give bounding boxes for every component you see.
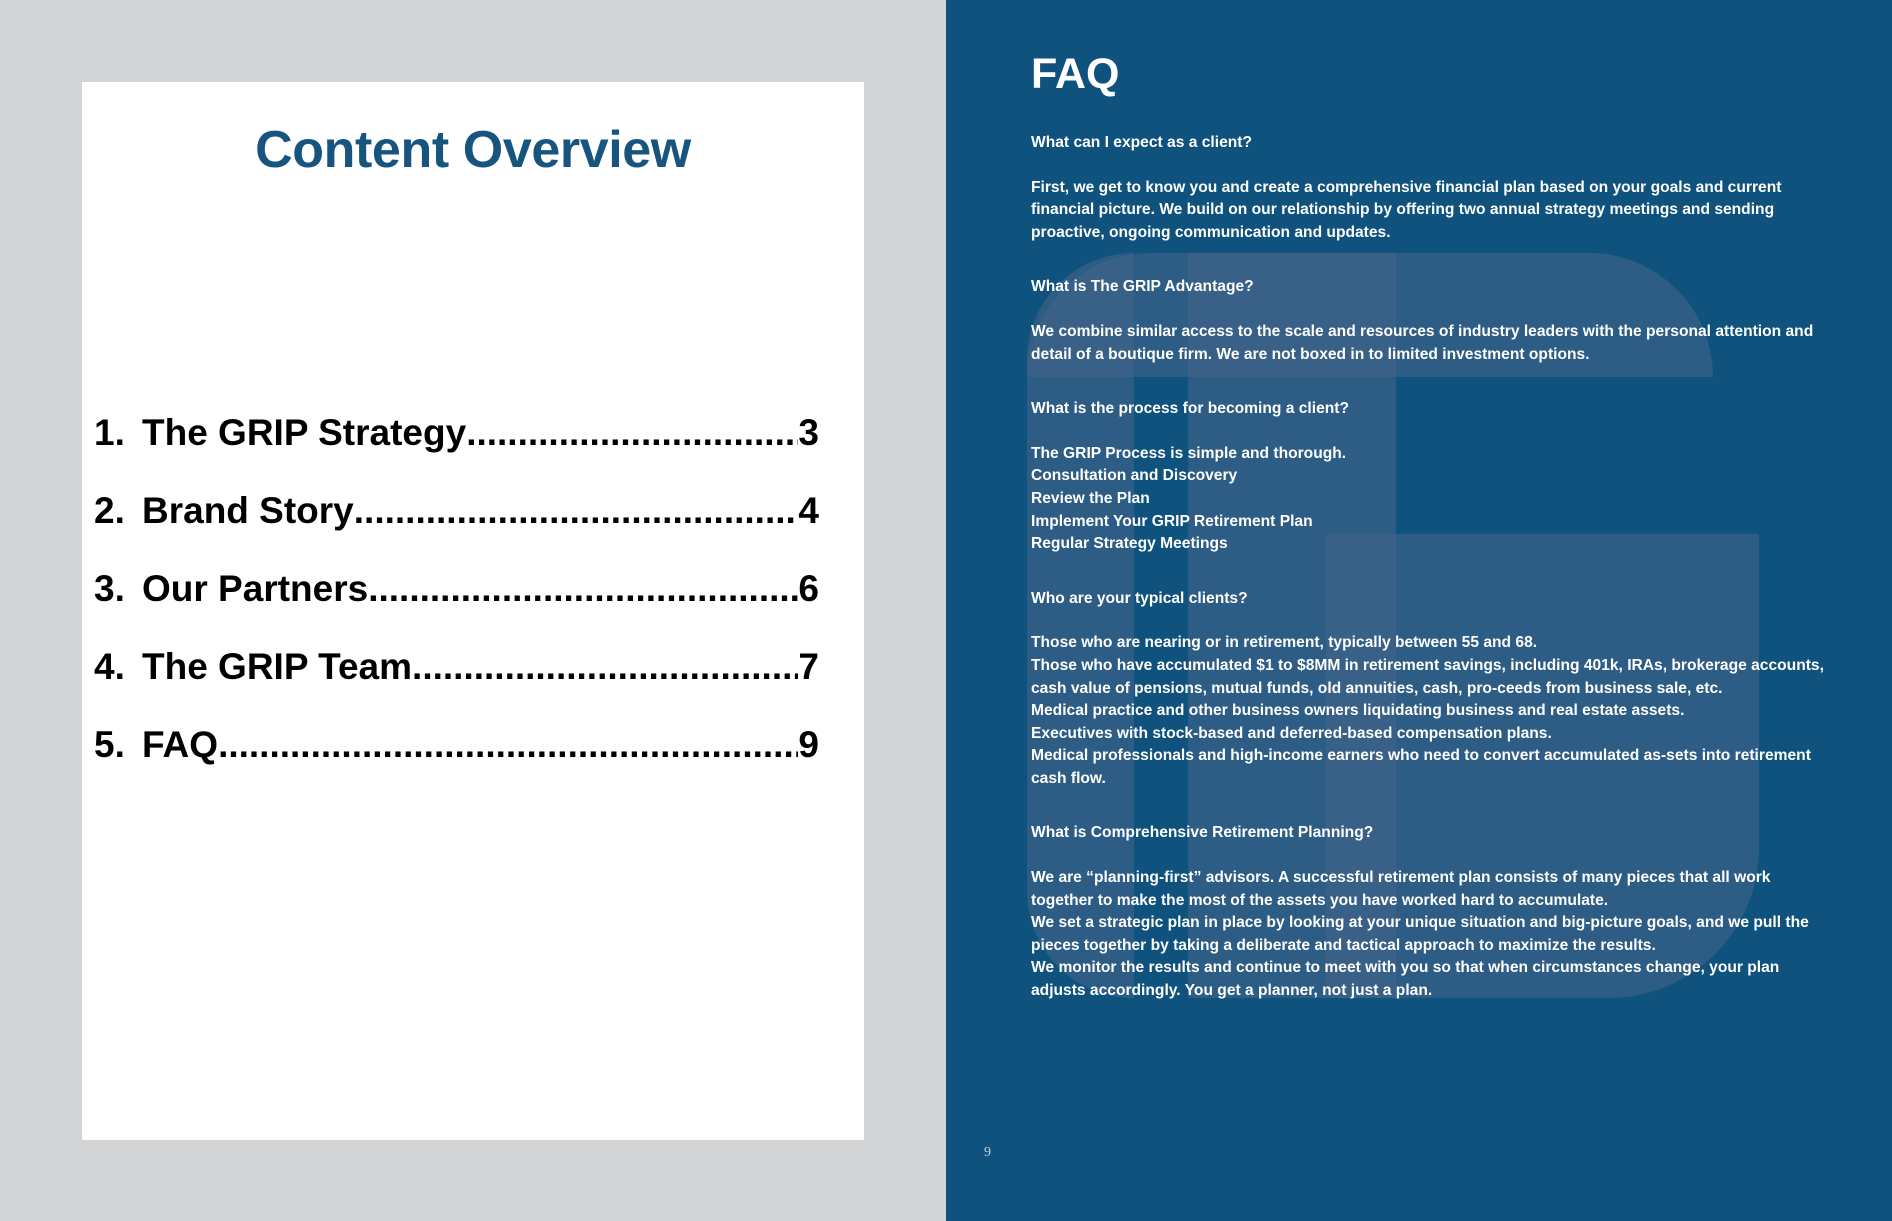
toc-row[interactable]: 4.The GRIP Team.........................… [82,646,864,724]
toc-leader-dots: ........................................… [368,568,798,610]
toc-row[interactable]: 5.FAQ...................................… [82,724,864,802]
page-number: 9 [984,1145,991,1161]
faq-list: What can I expect as a client?First, we … [1031,132,1831,1003]
faq-answer-line: Executives with stock-based and deferred… [1031,723,1831,746]
faq-answer-line: Medical professionals and high-income ea… [1031,745,1831,790]
faq-answer-line: Those who are nearing or in retirement, … [1031,632,1831,655]
faq-answer-line: We combine similar access to the scale a… [1031,321,1831,366]
faq-answer: First, we get to know you and create a c… [1031,177,1831,245]
toc-page-number: 6 [798,568,864,610]
table-of-contents: 1.The GRIP Strategy.....................… [82,412,864,802]
faq-answer-line: Those who have accumulated $1 to $8MM in… [1031,655,1831,700]
page-title: Content Overview [82,120,864,180]
faq-answer-line: We are “planning-first” advisors. A succ… [1031,867,1831,912]
toc-leader-dots: ........................................… [466,412,798,454]
faq-question: What is The GRIP Advantage? [1031,276,1831,299]
faq-question: What is Comprehensive Retirement Plannin… [1031,822,1831,845]
toc-page-number: 9 [798,724,864,766]
content-overview-slide: Content Overview 1.The GRIP Strategy....… [82,82,864,1140]
faq-question: What can I expect as a client? [1031,132,1831,155]
toc-label: Our Partners [142,568,368,610]
toc-row[interactable]: 1.The GRIP Strategy.....................… [82,412,864,490]
toc-row[interactable]: 2.Brand Story...........................… [82,490,864,568]
document-page: Content Overview 1.The GRIP Strategy....… [0,0,1892,1221]
toc-leader-dots: ........................................… [354,490,799,532]
toc-row[interactable]: 3.Our Partners..........................… [82,568,864,646]
toc-number: 2. [82,490,142,532]
toc-label: The GRIP Strategy [142,412,466,454]
faq-answer: We are “planning-first” advisors. A succ… [1031,867,1831,1003]
faq-answer-line: We set a strategic plan in place by look… [1031,912,1831,957]
faq-slide: FAQ What can I expect as a client?First,… [946,0,1892,1221]
faq-answer-line: Implement Your GRIP Retirement Plan [1031,511,1831,534]
toc-number: 1. [82,412,142,454]
faq-answer-line: Medical practice and other business owne… [1031,700,1831,723]
faq-title: FAQ [1031,50,1119,99]
toc-page-number: 3 [798,412,864,454]
toc-number: 5. [82,724,142,766]
faq-answer-line: First, we get to know you and create a c… [1031,177,1831,245]
toc-page-number: 4 [798,490,864,532]
faq-answer: The GRIP Process is simple and thorough.… [1031,443,1831,556]
faq-answer: Those who are nearing or in retirement, … [1031,632,1831,790]
toc-number: 3. [82,568,142,610]
toc-leader-dots: ........................................… [218,724,798,766]
faq-answer-line: The GRIP Process is simple and thorough. [1031,443,1831,466]
faq-answer-line: We monitor the results and continue to m… [1031,957,1831,1002]
faq-question: Who are your typical clients? [1031,588,1831,611]
faq-answer-line: Review the Plan [1031,488,1831,511]
toc-label: FAQ [142,724,218,766]
toc-leader-dots: ........................................… [412,646,798,688]
left-slide-canvas: Content Overview 1.The GRIP Strategy....… [0,0,946,1221]
toc-label: The GRIP Team [142,646,412,688]
faq-answer-line: Regular Strategy Meetings [1031,533,1831,556]
toc-page-number: 7 [798,646,864,688]
toc-number: 4. [82,646,142,688]
faq-answer-line: Consultation and Discovery [1031,465,1831,488]
toc-label: Brand Story [142,490,354,532]
faq-answer: We combine similar access to the scale a… [1031,321,1831,366]
faq-question: What is the process for becoming a clien… [1031,398,1831,421]
